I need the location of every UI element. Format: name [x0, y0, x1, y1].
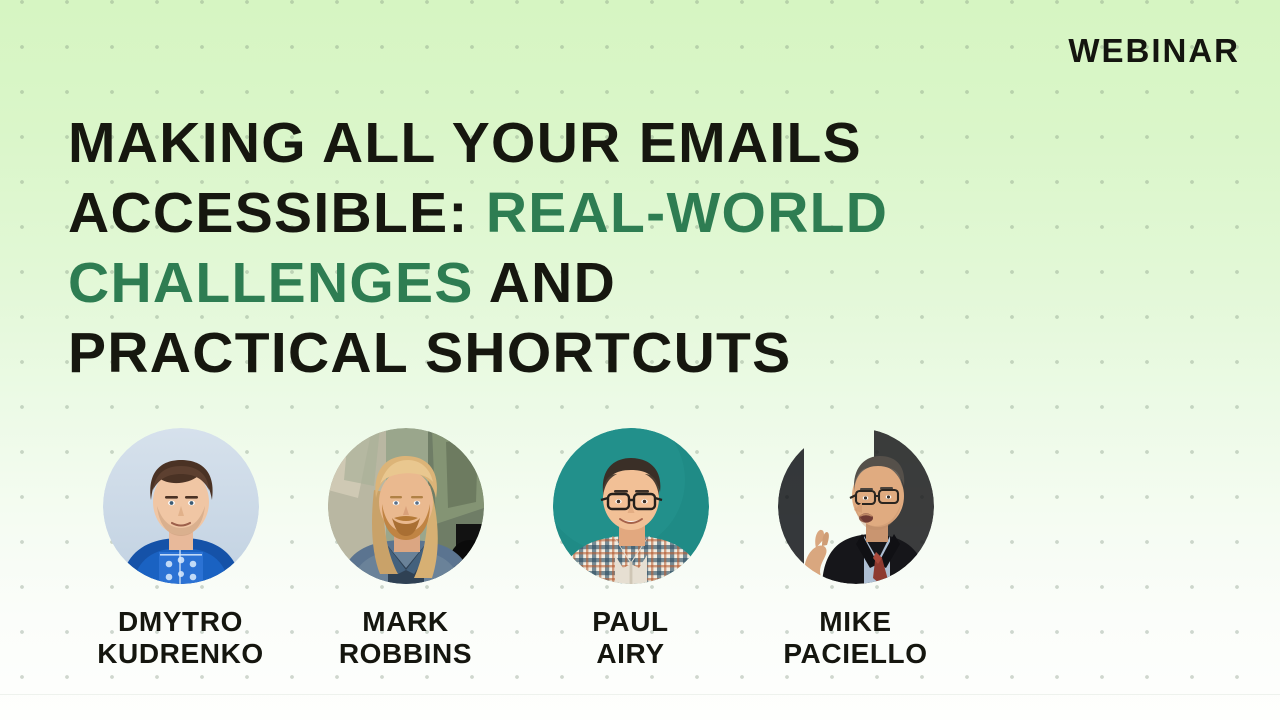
- headline-line-3-plain: AND: [474, 251, 616, 315]
- bottom-divider: [0, 694, 1280, 695]
- headline-line-2-accent: REAL-WORLD: [486, 181, 888, 245]
- speakers-row: DMYTRO KUDRENKO: [68, 428, 968, 670]
- webinar-promo-banner: WEBINAR MAKING ALL YOUR EMAILS ACCESSIBL…: [0, 0, 1280, 720]
- speaker-name-mark-robbins: MARK ROBBINS: [339, 606, 472, 670]
- headline-line-4: PRACTICAL SHORTCUTS: [68, 318, 1228, 388]
- speaker-name-paul-airy: PAUL AIRY: [592, 606, 669, 670]
- speaker-name-dmytro-kudrenko: DMYTRO KUDRENKO: [97, 606, 264, 670]
- page-title: MAKING ALL YOUR EMAILS ACCESSIBLE: REAL-…: [68, 108, 1228, 388]
- speaker-card-dmytro-kudrenko: DMYTRO KUDRENKO: [68, 428, 293, 670]
- speaker-photo-mark-robbins: [328, 428, 484, 584]
- headline-line-3-accent: CHALLENGES: [68, 251, 474, 315]
- speaker-card-mike-paciello: MIKE PACIELLO: [743, 428, 968, 670]
- headline-line-2-plain: ACCESSIBLE:: [68, 181, 486, 245]
- speaker-photo-mike-paciello: [778, 428, 934, 584]
- eyebrow-label: WEBINAR: [1068, 34, 1240, 67]
- speaker-photo-paul-airy: [553, 428, 709, 584]
- headline-line-2: ACCESSIBLE: REAL-WORLD: [68, 178, 1228, 248]
- speaker-name-mike-paciello: MIKE PACIELLO: [783, 606, 927, 670]
- headline-line-3: CHALLENGES AND: [68, 248, 1228, 318]
- speaker-photo-dmytro-kudrenko: [103, 428, 259, 584]
- speaker-card-paul-airy: PAUL AIRY: [518, 428, 743, 670]
- headline-line-1: MAKING ALL YOUR EMAILS: [68, 108, 1228, 178]
- speaker-card-mark-robbins: MARK ROBBINS: [293, 428, 518, 670]
